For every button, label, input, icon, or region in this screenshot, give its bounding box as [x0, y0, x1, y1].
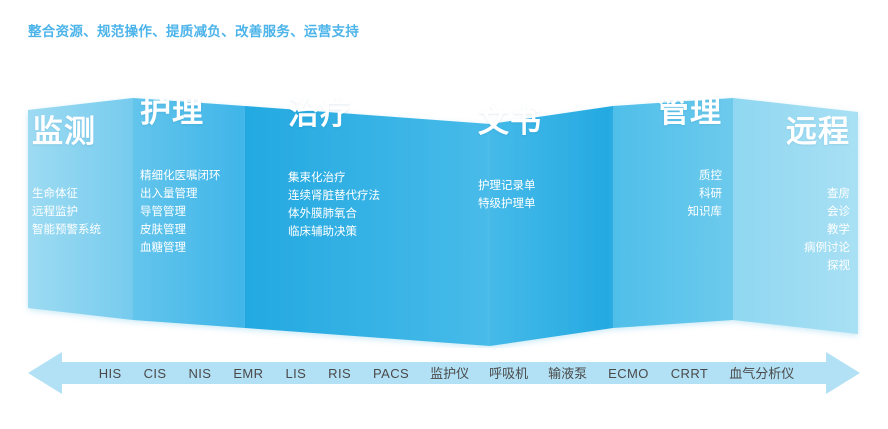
system-label[interactable]: CIS — [133, 367, 178, 380]
system-label[interactable]: NIS — [177, 367, 222, 380]
list-item[interactable]: 护理记录单 — [478, 177, 598, 195]
systems-arrow-bar: HIS CIS NIS EMR LIS RIS PACS 监护仪 呼吸机 输液泵… — [0, 350, 888, 396]
list-item[interactable]: 体外膜肺氧合 — [288, 205, 438, 223]
folding-screen-diagram: 监测 生命体征 远程监护 智能预警系统 护理 精细化医嘱闭环 出入量管理 导管管… — [0, 48, 888, 348]
list-item[interactable]: 质控 — [616, 167, 722, 185]
list-item[interactable]: 导管管理 — [140, 203, 244, 221]
list-item[interactable]: 血糖管理 — [140, 239, 244, 257]
list-item[interactable]: 查房 — [738, 185, 850, 203]
list-item[interactable]: 探视 — [738, 257, 850, 275]
system-label[interactable]: EMR — [222, 367, 274, 380]
panel-management[interactable]: 管理 质控 科研 知识库 — [616, 96, 722, 221]
system-label[interactable]: 监护仪 — [420, 367, 479, 380]
panel-monitoring[interactable]: 监测 生命体征 远程监护 智能预警系统 — [32, 116, 130, 239]
panel-title-monitoring: 监测 — [32, 116, 130, 147]
list-item[interactable]: 连续肾脏替代疗法 — [288, 187, 438, 205]
list-item[interactable]: 临床辅助决策 — [288, 223, 438, 241]
system-label[interactable]: HIS — [88, 367, 133, 380]
panel-title-nursing: 护理 — [140, 96, 244, 127]
panel-title-treatment: 治疗 — [288, 98, 438, 129]
panel-nursing[interactable]: 护理 精细化医嘱闭环 出入量管理 导管管理 皮肤管理 血糖管理 — [140, 96, 244, 257]
system-label[interactable]: CRRT — [660, 367, 719, 380]
system-label[interactable]: ECMO — [597, 367, 660, 380]
list-item[interactable]: 远程监护 — [32, 203, 130, 221]
list-item[interactable]: 生命体征 — [32, 185, 130, 203]
panel-documentation[interactable]: 文书 护理记录单 特级护理单 — [478, 106, 598, 213]
panel-items-treatment: 集束化治疗 连续肾脏替代疗法 体外膜肺氧合 临床辅助决策 — [288, 169, 438, 241]
panel-remote[interactable]: 远程 查房 会诊 教学 病例讨论 探视 — [738, 116, 850, 275]
panel-items-management: 质控 科研 知识库 — [616, 167, 722, 221]
list-item[interactable]: 集束化治疗 — [288, 169, 438, 187]
panel-items-nursing: 精细化医嘱闭环 出入量管理 导管管理 皮肤管理 血糖管理 — [140, 167, 244, 257]
list-item[interactable]: 智能预警系统 — [32, 221, 130, 239]
system-label[interactable]: 呼吸机 — [479, 367, 538, 380]
list-item[interactable]: 科研 — [616, 185, 722, 203]
list-item[interactable]: 会诊 — [738, 203, 850, 221]
list-item[interactable]: 教学 — [738, 221, 850, 239]
list-item[interactable]: 皮肤管理 — [140, 221, 244, 239]
panel-title-management: 管理 — [616, 96, 722, 127]
panel-items-remote: 查房 会诊 教学 病例讨论 探视 — [738, 185, 850, 275]
page-title: 整合资源、规范操作、提质减负、改善服务、运营支持 — [28, 20, 359, 40]
list-item[interactable]: 病例讨论 — [738, 239, 850, 257]
system-label[interactable]: 输液泵 — [538, 367, 597, 380]
system-label[interactable]: LIS — [274, 367, 317, 380]
list-item[interactable]: 知识库 — [616, 203, 722, 221]
panel-items-monitoring: 生命体征 远程监护 智能预警系统 — [32, 185, 130, 239]
panel-treatment[interactable]: 治疗 集束化治疗 连续肾脏替代疗法 体外膜肺氧合 临床辅助决策 — [288, 98, 438, 241]
list-item[interactable]: 特级护理单 — [478, 195, 598, 213]
panel-items-documentation: 护理记录单 特级护理单 — [478, 177, 598, 213]
list-item[interactable]: 精细化医嘱闭环 — [140, 167, 244, 185]
panel-title-remote: 远程 — [738, 116, 850, 147]
system-label[interactable]: RIS — [317, 367, 362, 380]
system-label[interactable]: PACS — [362, 367, 420, 380]
panel-title-documentation: 文书 — [478, 106, 598, 137]
list-item[interactable]: 出入量管理 — [140, 185, 244, 203]
infographic-root: 整合资源、规范操作、提质减负、改善服务、运营支持 — [0, 0, 888, 429]
systems-label-list: HIS CIS NIS EMR LIS RIS PACS 监护仪 呼吸机 输液泵… — [60, 350, 832, 396]
system-label[interactable]: 血气分析仪 — [719, 367, 804, 380]
